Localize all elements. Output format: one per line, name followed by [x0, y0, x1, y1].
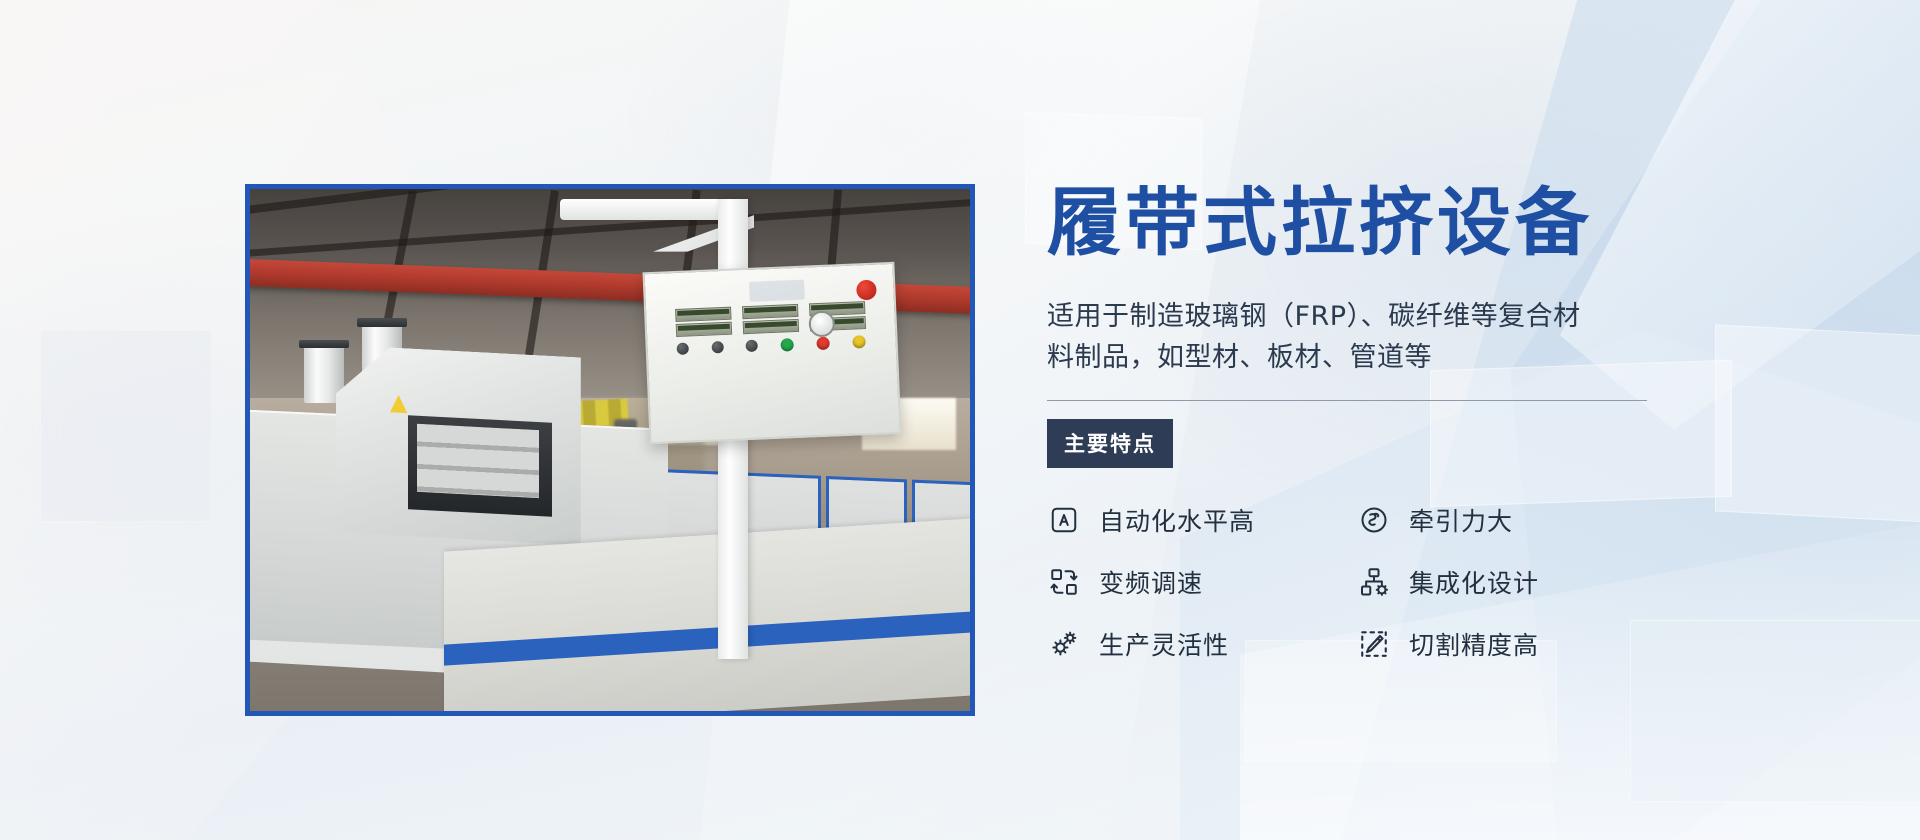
automation-icon [1047, 503, 1081, 537]
control-knob [746, 339, 758, 351]
feature-label: 切割精度高 [1409, 626, 1539, 662]
control-panel [643, 262, 902, 445]
control-panel-logo [749, 280, 804, 302]
feature-item-flexibility: 生产灵活性 [1047, 626, 1357, 662]
emergency-stop-button [856, 280, 877, 301]
feature-item-traction: 牵引力大 [1357, 502, 1667, 538]
indicator-lamp-red [817, 336, 831, 350]
gears-icon [1047, 627, 1081, 661]
analog-gauge [808, 310, 835, 337]
feature-item-integration: 集成化设计 [1357, 564, 1667, 600]
control-panel-meters [675, 301, 866, 335]
main-features-badge: 主要特点 [1047, 419, 1173, 468]
control-knob [676, 342, 688, 354]
product-banner: 履带式拉挤设备 适用于制造玻璃钢（FRP）、碳纤维等复合材 料制品，如型材、板材… [0, 0, 1920, 840]
background-ghost-rect [40, 330, 212, 522]
divider [1047, 400, 1647, 401]
digital-meter [743, 319, 799, 334]
feature-item-cut-precision: 切割精度高 [1357, 626, 1667, 662]
product-photo-image [250, 189, 970, 711]
feature-item-frequency-speed: 变频调速 [1047, 564, 1357, 600]
digital-meter [742, 304, 798, 319]
indicator-lamp-yellow [852, 335, 866, 349]
indicator-lamp-green [781, 338, 795, 352]
feature-label: 生产灵活性 [1099, 626, 1229, 662]
feature-item-automation: 自动化水平高 [1047, 502, 1357, 538]
feature-label: 自动化水平高 [1099, 502, 1255, 538]
background-ghost-rect [1715, 324, 1920, 522]
feature-list: 自动化水平高 牵引力大 [1047, 502, 1737, 662]
control-knob [711, 341, 723, 353]
control-panel-knobs [676, 335, 867, 356]
subtitle-line-1: 适用于制造玻璃钢（FRP）、碳纤维等复合材 [1047, 296, 1647, 337]
feature-label: 集成化设计 [1409, 564, 1539, 600]
banner-content: 履带式拉挤设备 适用于制造玻璃钢（FRP）、碳纤维等复合材 料制品，如型材、板材… [1047, 186, 1737, 662]
caterpillar-rollers [417, 423, 539, 497]
subtitle-line-2: 料制品，如型材、板材、管道等 [1047, 337, 1647, 378]
digital-meter [675, 307, 731, 322]
integration-icon [1357, 565, 1391, 599]
feature-label: 变频调速 [1099, 564, 1203, 600]
frequency-speed-icon [1047, 565, 1081, 599]
page-title: 履带式拉挤设备 [1047, 186, 1737, 260]
precision-cut-icon [1357, 627, 1391, 661]
digital-meter [675, 322, 731, 337]
product-photo [245, 184, 975, 716]
feature-label: 牵引力大 [1409, 502, 1513, 538]
traction-icon [1357, 503, 1391, 537]
